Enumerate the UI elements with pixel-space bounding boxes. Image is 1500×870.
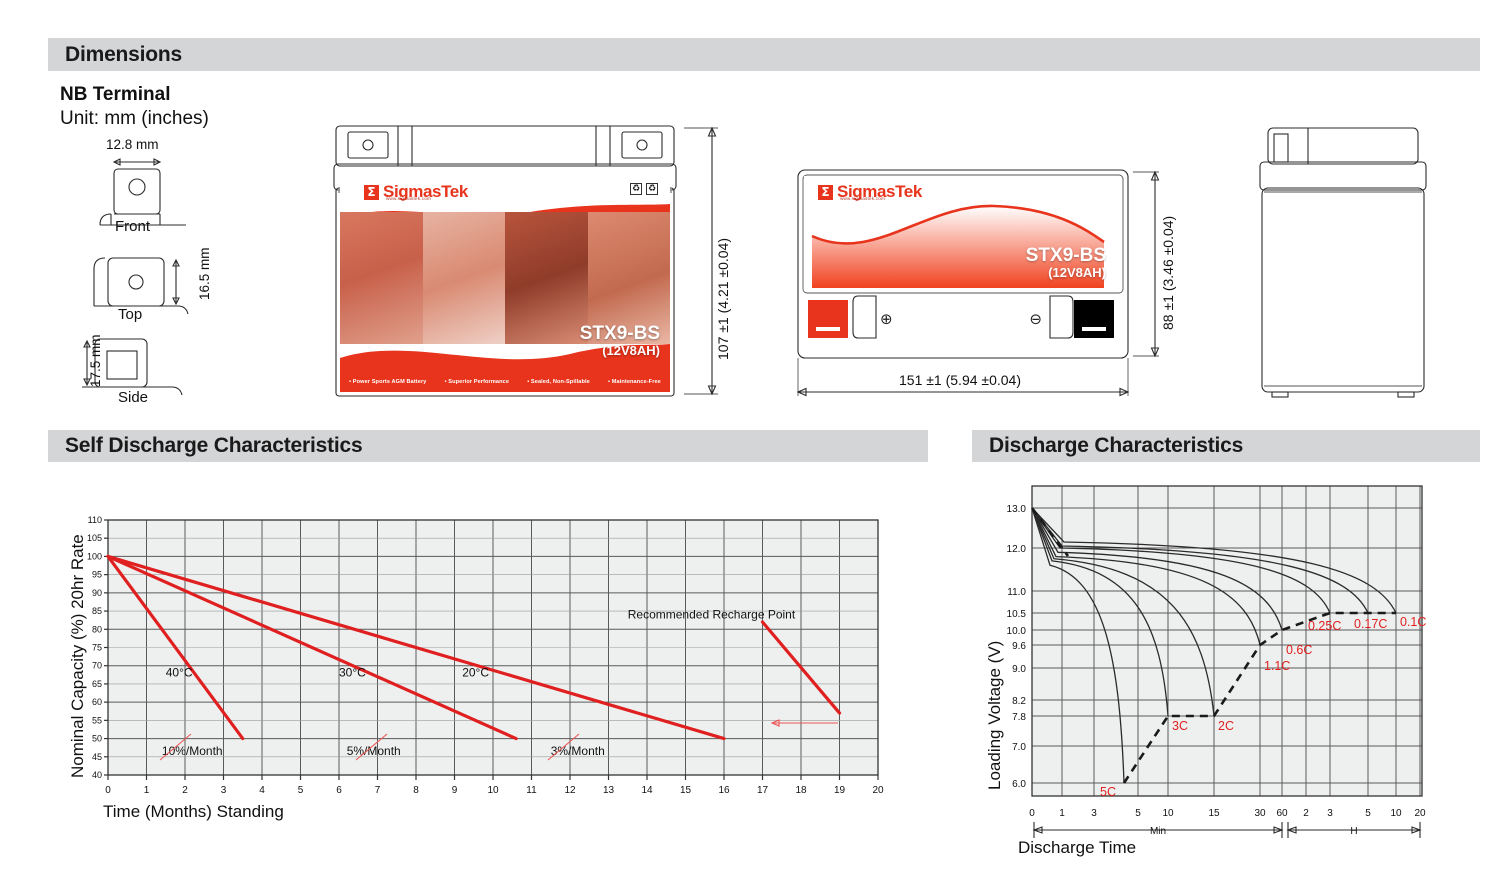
svg-text:14: 14 xyxy=(641,785,653,796)
label-icons: ♻ ♻ xyxy=(630,183,658,195)
svg-text:4: 4 xyxy=(259,785,265,796)
length-dimension-label: 151 ±1 (5.94 ±0.04) xyxy=(899,372,1021,388)
svg-text:105: 105 xyxy=(87,533,102,543)
svg-text:12: 12 xyxy=(564,785,576,796)
negative-polarity-icon: ⊖ xyxy=(1029,310,1042,328)
svg-text:5%/Month: 5%/Month xyxy=(347,744,401,758)
positive-cap-dash xyxy=(816,327,840,331)
section-header-self-discharge: Self Discharge Characteristics xyxy=(48,430,928,462)
battery-side-outline xyxy=(1248,126,1433,401)
svg-text:13.0: 13.0 xyxy=(1007,504,1027,515)
svg-text:75: 75 xyxy=(92,643,102,653)
svg-text:2C: 2C xyxy=(1218,719,1234,733)
svg-text:1.1C: 1.1C xyxy=(1264,659,1290,673)
sigma-icon: Σ xyxy=(364,185,379,200)
svg-text:0.25C: 0.25C xyxy=(1308,619,1341,633)
svg-text:0.17C: 0.17C xyxy=(1354,617,1387,631)
svg-text:12.0: 12.0 xyxy=(1007,544,1027,555)
svg-text:0.6C: 0.6C xyxy=(1286,643,1312,657)
tagline-1: • Superior Performance xyxy=(445,379,509,385)
section-title-dimensions: Dimensions xyxy=(48,43,182,67)
wheelie-bin-icon: ♻ xyxy=(646,183,658,195)
top-label-artwork: Σ SigmasTek www.sigmastek.com STX9-BS (1… xyxy=(804,176,1118,288)
svg-text:5C: 5C xyxy=(1100,785,1116,799)
svg-text:5: 5 xyxy=(298,785,304,796)
top-spec-text: (12V8AH) xyxy=(1026,266,1106,280)
negative-terminal-cap xyxy=(1074,300,1114,338)
svg-text:9.6: 9.6 xyxy=(1012,641,1026,652)
svg-text:9: 9 xyxy=(452,785,458,796)
section-header-discharge: Discharge Characteristics xyxy=(972,430,1480,462)
svg-text:3: 3 xyxy=(1091,808,1097,819)
svg-text:60: 60 xyxy=(92,697,102,707)
svg-text:0.1C: 0.1C xyxy=(1400,615,1426,629)
top-model-text: STX9-BS xyxy=(1026,246,1106,266)
unit-label: Unit: mm (inches) xyxy=(60,108,209,130)
svg-text:110: 110 xyxy=(88,515,102,525)
svg-text:6.0: 6.0 xyxy=(1012,779,1026,790)
svg-text:5: 5 xyxy=(1365,808,1371,819)
svg-text:Recommended Recharge Point: Recommended Recharge Point xyxy=(628,607,796,621)
top-model-name: STX9-BS (12V8AH) xyxy=(1026,246,1106,280)
svg-text:40°C: 40°C xyxy=(166,666,193,680)
battery-front-label: Σ SigmasTek www.sigmastek.com ♻ ♻ STX9-B… xyxy=(334,124,676,396)
svg-text:60: 60 xyxy=(1276,808,1288,819)
tagline-3: • Maintenance-Free xyxy=(608,379,661,385)
rider-photo-snowmobile xyxy=(423,212,506,344)
tagline-2: • Sealed, Non-Spillable xyxy=(527,379,590,385)
svg-text:Min: Min xyxy=(1150,826,1166,837)
svg-text:13: 13 xyxy=(603,785,615,796)
section-header-dimensions: Dimensions xyxy=(48,38,1480,71)
svg-text:2: 2 xyxy=(1303,808,1309,819)
svg-text:6: 6 xyxy=(336,785,342,796)
svg-text:1: 1 xyxy=(144,785,150,796)
nb-terminal-title: NB Terminal xyxy=(60,84,171,106)
front-label-artwork: Σ SigmasTek www.sigmastek.com ♻ ♻ STX9-B… xyxy=(340,174,670,392)
svg-text:8.2: 8.2 xyxy=(1012,696,1026,707)
self-discharge-xlabel: Time (Months) Standing xyxy=(103,802,284,822)
svg-text:40: 40 xyxy=(92,770,102,780)
svg-text:19: 19 xyxy=(834,785,846,796)
svg-text:3: 3 xyxy=(1327,808,1333,819)
terminal-view-top-label: Top xyxy=(118,306,142,323)
svg-text:65: 65 xyxy=(92,679,102,689)
svg-text:H: H xyxy=(1350,826,1357,837)
svg-text:10.0: 10.0 xyxy=(1007,626,1027,637)
svg-text:3: 3 xyxy=(221,785,227,796)
height-dimension-label: 107 ±1 (4.21 ±0.04) xyxy=(715,238,731,360)
svg-text:7.0: 7.0 xyxy=(1012,742,1026,753)
svg-text:18: 18 xyxy=(795,785,807,796)
svg-text:1: 1 xyxy=(1059,808,1065,819)
svg-text:10: 10 xyxy=(1390,808,1402,819)
svg-text:20: 20 xyxy=(1414,808,1426,819)
terminal-width-label: 12.8 mm xyxy=(106,137,159,152)
svg-text:85: 85 xyxy=(92,606,102,616)
svg-text:30: 30 xyxy=(1254,808,1266,819)
svg-text:80: 80 xyxy=(92,624,102,634)
svg-text:70: 70 xyxy=(92,661,102,671)
section-title-self-discharge: Self Discharge Characteristics xyxy=(48,434,362,458)
svg-text:2: 2 xyxy=(182,785,188,796)
discharge-xlabel: Discharge Time xyxy=(1018,838,1136,858)
terminal-height-label: 17.5 mm xyxy=(88,334,103,387)
svg-text:16: 16 xyxy=(718,785,730,796)
discharge-ylabel: Loading Voltage (V) xyxy=(985,641,1005,790)
svg-text:15: 15 xyxy=(680,785,692,796)
svg-text:20: 20 xyxy=(872,785,884,796)
terminal-view-side-label: Side xyxy=(118,389,148,406)
self-discharge-ylabel: Nominal Capacity (%) 20hr Rate xyxy=(68,534,88,778)
front-spec-text: (12V8AH) xyxy=(580,344,660,358)
terminal-depth-label: 16.5 mm xyxy=(197,247,212,300)
svg-text:9.0: 9.0 xyxy=(1012,664,1026,675)
case-height-dimension-label: 88 ±1 (3.46 ±0.04) xyxy=(1160,216,1176,330)
svg-text:45: 45 xyxy=(92,752,102,762)
svg-text:7.8: 7.8 xyxy=(1012,712,1026,723)
top-brand-url: www.sigmastek.com xyxy=(840,196,885,201)
svg-text:0: 0 xyxy=(105,785,111,796)
brand-url: www.sigmastek.com xyxy=(386,196,431,201)
negative-cap-dash xyxy=(1082,327,1106,331)
top-sigma-icon: Σ xyxy=(818,185,833,200)
svg-text:0: 0 xyxy=(1029,808,1035,819)
discharge-chart: 13.012.011.010.510.09.69.08.27.87.06.0 5… xyxy=(972,478,1442,868)
svg-text:10.5: 10.5 xyxy=(1007,609,1027,620)
tagline-0: • Power Sports AGM Battery xyxy=(349,379,426,385)
rider-photo-motocross xyxy=(340,212,423,344)
self-discharge-chart: 404550556065707580859095100105110 012345… xyxy=(48,505,928,805)
svg-text:7: 7 xyxy=(375,785,381,796)
svg-text:55: 55 xyxy=(92,715,102,725)
svg-text:11: 11 xyxy=(526,785,537,796)
svg-text:50: 50 xyxy=(92,734,102,744)
section-title-discharge: Discharge Characteristics xyxy=(972,434,1243,458)
svg-text:30°C: 30°C xyxy=(339,666,366,680)
front-model-text: STX9-BS xyxy=(580,324,660,344)
positive-terminal-cap xyxy=(808,300,848,338)
svg-text:11.0: 11.0 xyxy=(1007,587,1026,598)
svg-text:100: 100 xyxy=(87,551,102,561)
front-model-name: STX9-BS (12V8AH) xyxy=(580,324,660,358)
svg-text:10: 10 xyxy=(1162,808,1174,819)
rider-photo-atv xyxy=(505,212,588,344)
svg-text:10: 10 xyxy=(487,785,499,796)
recycle-icon: ♻ xyxy=(630,183,642,195)
svg-text:90: 90 xyxy=(92,588,102,598)
svg-text:20°C: 20°C xyxy=(462,666,489,680)
positive-polarity-icon: ⊕ xyxy=(880,310,893,328)
svg-text:3C: 3C xyxy=(1172,719,1188,733)
svg-text:17: 17 xyxy=(757,785,769,796)
battery-top-label: Σ SigmasTek www.sigmastek.com STX9-BS (1… xyxy=(796,168,1126,356)
terminal-view-front-label: Front xyxy=(115,218,150,235)
svg-text:95: 95 xyxy=(92,570,102,580)
svg-text:8: 8 xyxy=(413,785,419,796)
front-taglines: • Power Sports AGM Battery • Superior Pe… xyxy=(340,374,670,390)
svg-text:15: 15 xyxy=(1208,808,1220,819)
svg-text:5: 5 xyxy=(1135,808,1141,819)
